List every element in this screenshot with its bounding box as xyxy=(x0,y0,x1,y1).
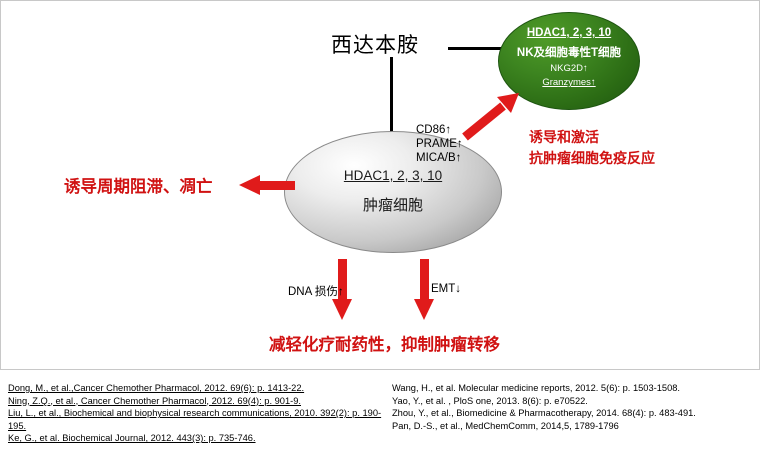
tumor-hdac-label: HDAC1, 2, 3, 10 xyxy=(285,168,501,183)
tumor-cell-shape: HDAC1, 2, 3, 10 肿瘤细胞 xyxy=(284,131,502,253)
reference-item: Ning, Z.Q., et al., Cancer Chemother Pha… xyxy=(8,395,388,408)
tumor-marker-list: CD86↑ PRAME↑ MICA/B↑ xyxy=(416,123,463,165)
pathway-diagram: 西达本胺 HDAC1, 2, 3, 10 肿瘤细胞 HDAC1, 2, 3, 1… xyxy=(0,0,760,370)
reference-text: Liu, L., et al., Biochemical and biophys… xyxy=(8,408,381,431)
arrow-left-head xyxy=(239,175,260,195)
arrow-emt-head xyxy=(414,299,434,320)
reference-item: Zhou, Y., et al., Biomedicine & Pharmaco… xyxy=(392,407,758,420)
reference-item: Liu, L., et al., Biochemical and biophys… xyxy=(8,407,388,432)
reference-item: Ke, G., et al. Biochemical Journal, 2012… xyxy=(8,432,388,445)
reference-item: Pan, D.-S., et al., MedChemComm, 2014,5,… xyxy=(392,420,758,433)
nk-hdac-label: HDAC1, 2, 3, 10 xyxy=(499,27,639,39)
reference-text: Pan, D.-S., et al., MedChemComm, 2014,5,… xyxy=(392,421,619,431)
nk-nkg2d-label: NKG2D↑ xyxy=(499,63,639,74)
nk-granzymes-label: Granzymes↑ xyxy=(499,77,639,88)
reference-text: Ning, Z.Q., et al., Cancer Chemother Pha… xyxy=(8,396,301,406)
reference-item: Dong, M., et al.,Cancer Chemother Pharma… xyxy=(8,382,388,395)
reference-text: Dong, M., et al.,Cancer Chemother Pharma… xyxy=(8,383,304,393)
arrow-emt-body xyxy=(420,259,429,301)
dna-damage-label: DNA 损伤↑ xyxy=(288,283,344,299)
bottom-effect-label: 减轻化疗耐药性，抑制肿瘤转移 xyxy=(269,331,500,355)
tumor-cell-label: 肿瘤细胞 xyxy=(285,194,501,215)
arrow-left-body xyxy=(259,181,295,190)
reference-text: Wang, H., et al. Molecular medicine repo… xyxy=(392,383,680,393)
emt-label: EMT↓ xyxy=(431,283,461,295)
reference-text: Yao, Y., et al. , PloS one, 2013. 8(6): … xyxy=(392,396,588,406)
cell-cycle-apoptosis-label: 诱导周期阻滞、凋亡 xyxy=(64,173,213,197)
arrow-dna-head xyxy=(332,299,352,320)
reference-item: Wang, H., et al. Molecular medicine repo… xyxy=(392,382,758,395)
arrow-tumor-to-nk xyxy=(461,93,521,141)
references-column-right: Wang, H., et al. Molecular medicine repo… xyxy=(392,382,758,432)
immune-response-label: 诱导和激活 抗肿瘤细胞免疫反应 xyxy=(529,127,655,169)
reference-text: Zhou, Y., et al., Biomedicine & Pharmaco… xyxy=(392,408,696,418)
drug-title: 西达本胺 xyxy=(331,29,419,59)
reference-item: Yao, Y., et al. , PloS one, 2013. 8(6): … xyxy=(392,395,758,408)
nk-cell-label: NK及细胞毒性T细胞 xyxy=(499,44,639,60)
slide-page: 西达本胺 HDAC1, 2, 3, 10 肿瘤细胞 HDAC1, 2, 3, 1… xyxy=(0,0,760,463)
reference-text: Ke, G., et al. Biochemical Journal, 2012… xyxy=(8,433,256,443)
references-block: Dong, M., et al.,Cancer Chemother Pharma… xyxy=(0,372,760,462)
references-column-left: Dong, M., et al.,Cancer Chemother Pharma… xyxy=(8,382,388,445)
